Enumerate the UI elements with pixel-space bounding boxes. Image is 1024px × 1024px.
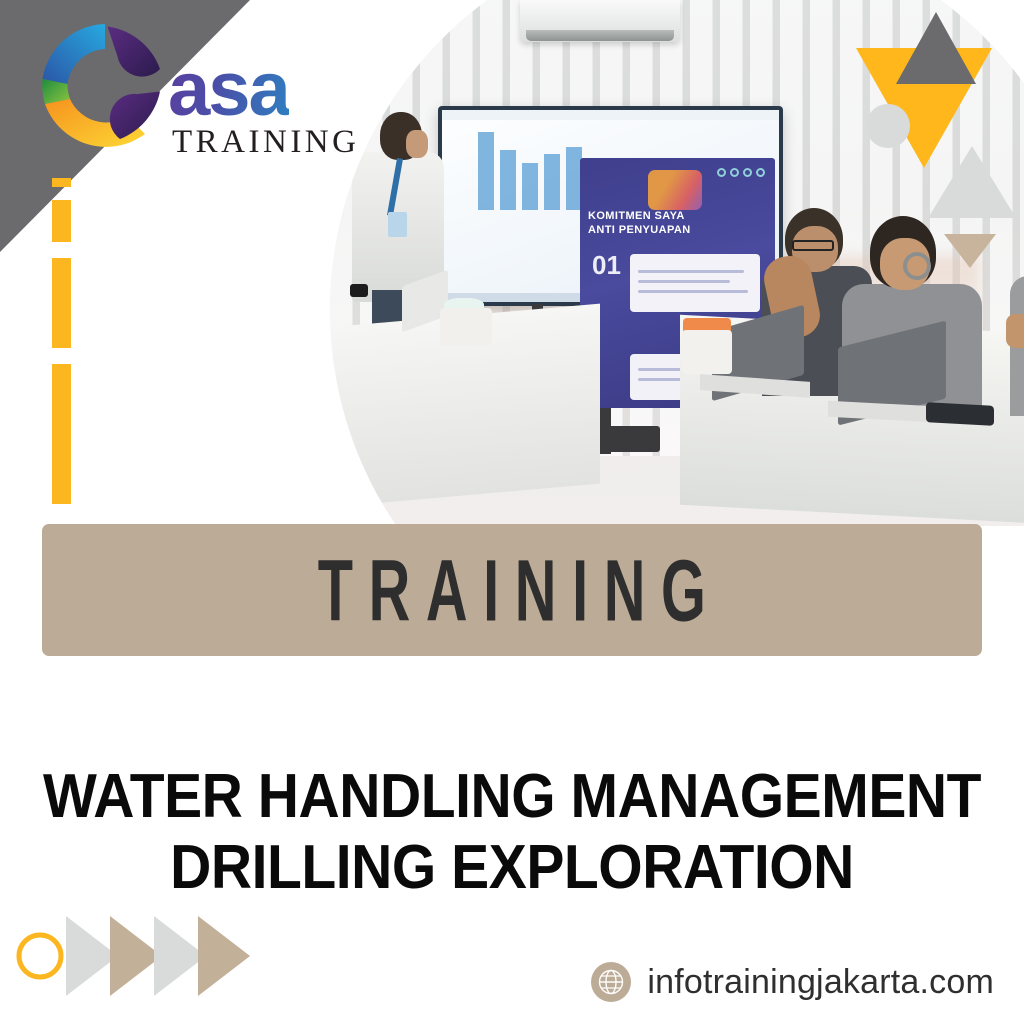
banner-item-card — [630, 254, 760, 312]
chart-bar — [500, 150, 516, 210]
training-banner-label: TRAINING — [302, 540, 721, 640]
chart-bar — [544, 154, 560, 210]
presenter-id-badge — [388, 212, 407, 237]
banner-headline-line1: KOMITMEN SAYA — [588, 210, 768, 224]
tissue-box — [682, 330, 732, 374]
banner-headline: KOMITMEN SAYA ANTI PENYUAPAN — [588, 210, 768, 238]
logo-wordmark: asa — [168, 52, 289, 128]
dash-segment — [52, 178, 71, 187]
logo-subtitle: TRAINING — [172, 124, 359, 161]
gray-circle-decor — [866, 104, 910, 148]
banner-card-line — [638, 290, 748, 293]
participant-glasses — [792, 240, 834, 251]
presenter-face — [406, 130, 428, 158]
presenter-watch — [350, 284, 368, 297]
footer-website[interactable]: infotrainingjakarta.com — [591, 962, 994, 1002]
banner-card-line — [638, 270, 744, 273]
tan-triangle-decor — [944, 234, 996, 268]
chart-bar — [478, 132, 494, 210]
dash-segment — [52, 364, 71, 504]
training-banner: TRAINING — [42, 524, 982, 656]
dark-gray-triangle-decor — [896, 12, 976, 84]
tissue-box — [440, 308, 492, 346]
banner-illustration — [648, 170, 702, 210]
poster-canvas: KOMITMEN SAYA ANTI PENYUAPAN 01 02 — [0, 0, 1024, 1024]
banner-headline-line2: ANTI PENYUAPAN — [588, 224, 768, 238]
globe-icon — [591, 962, 631, 1002]
website-url[interactable]: infotrainingjakarta.com — [647, 963, 994, 1002]
chart-bar — [522, 163, 538, 210]
light-gray-triangle-decor — [928, 146, 1016, 218]
air-conditioner-vent — [526, 30, 674, 41]
chevron-decor-group — [14, 916, 204, 996]
dash-segment — [52, 258, 71, 348]
screen-toolbar — [442, 110, 779, 120]
gray-ring-decor — [903, 252, 931, 280]
swirl-logo-icon — [30, 14, 180, 164]
course-title: WATER HANDLING MANAGEMENT DRILLING EXPLO… — [0, 762, 1024, 903]
banner-item-number-01: 01 — [592, 250, 621, 281]
yellow-ring-decor — [14, 930, 66, 982]
brand-logo: asa TRAINING — [30, 14, 340, 164]
course-title-line1: WATER HANDLING MANAGEMENT — [41, 762, 983, 833]
dash-segment — [52, 200, 71, 242]
banner-dots — [717, 168, 765, 177]
participant-hand — [1006, 314, 1024, 348]
chevron-arrow — [198, 916, 250, 996]
mobile-phone — [926, 402, 994, 426]
course-title-line2: DRILLING EXPLORATION — [41, 833, 983, 904]
banner-card-line — [638, 280, 730, 283]
